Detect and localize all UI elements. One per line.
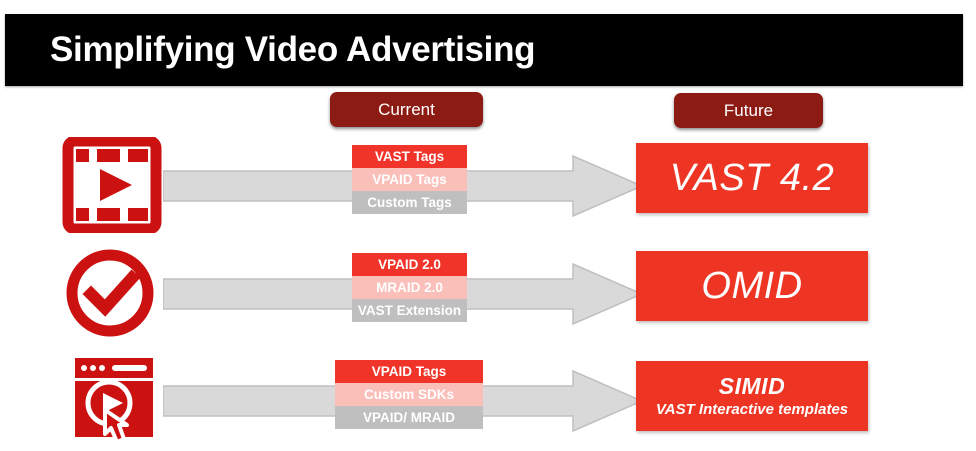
flow-row-verification: VPAID 2.0 MRAID 2.0 VAST Extension OMID xyxy=(0,243,976,343)
tag-item: VPAID Tags xyxy=(352,168,467,191)
tag-item: Custom Tags xyxy=(352,191,467,214)
result-title: VAST 4.2 xyxy=(670,159,835,197)
tag-stack: VPAID Tags Custom SDKs VPAID/ MRAID xyxy=(335,360,483,429)
tag-item: VPAID 2.0 xyxy=(352,253,467,276)
tag-item: VAST Extension xyxy=(352,299,467,322)
browser-click-play-icon xyxy=(62,352,162,448)
result-title: SIMID xyxy=(719,375,785,398)
flow-row-interactive: VPAID Tags Custom SDKs VPAID/ MRAID SIMI… xyxy=(0,350,976,450)
film-strip-play-icon xyxy=(62,137,162,233)
check-circle-icon xyxy=(62,245,162,341)
column-header-future-label: Future xyxy=(724,101,773,121)
column-header-current-label: Current xyxy=(378,100,435,120)
slide-canvas: Simplifying Video Advertising Current Fu… xyxy=(0,0,976,451)
tag-item: VAST Tags xyxy=(352,145,467,168)
column-header-current: Current xyxy=(330,92,483,127)
column-header-future: Future xyxy=(674,93,823,128)
tag-stack: VAST Tags VPAID Tags Custom Tags xyxy=(352,145,467,214)
tag-item: Custom SDKs xyxy=(335,383,483,406)
page-title: Simplifying Video Advertising xyxy=(50,30,535,70)
tag-item: MRAID 2.0 xyxy=(352,276,467,299)
tag-item: VPAID Tags xyxy=(335,360,483,383)
result-box: VAST 4.2 xyxy=(636,143,868,213)
result-title: OMID xyxy=(701,267,802,305)
title-banner: Simplifying Video Advertising xyxy=(5,14,963,86)
result-subtitle: VAST Interactive templates xyxy=(656,402,848,417)
tag-item: VPAID/ MRAID xyxy=(335,406,483,429)
flow-row-video: VAST Tags VPAID Tags Custom Tags VAST 4.… xyxy=(0,135,976,235)
result-box: OMID xyxy=(636,251,868,321)
tag-stack: VPAID 2.0 MRAID 2.0 VAST Extension xyxy=(352,253,467,322)
result-box: SIMID VAST Interactive templates xyxy=(636,361,868,431)
